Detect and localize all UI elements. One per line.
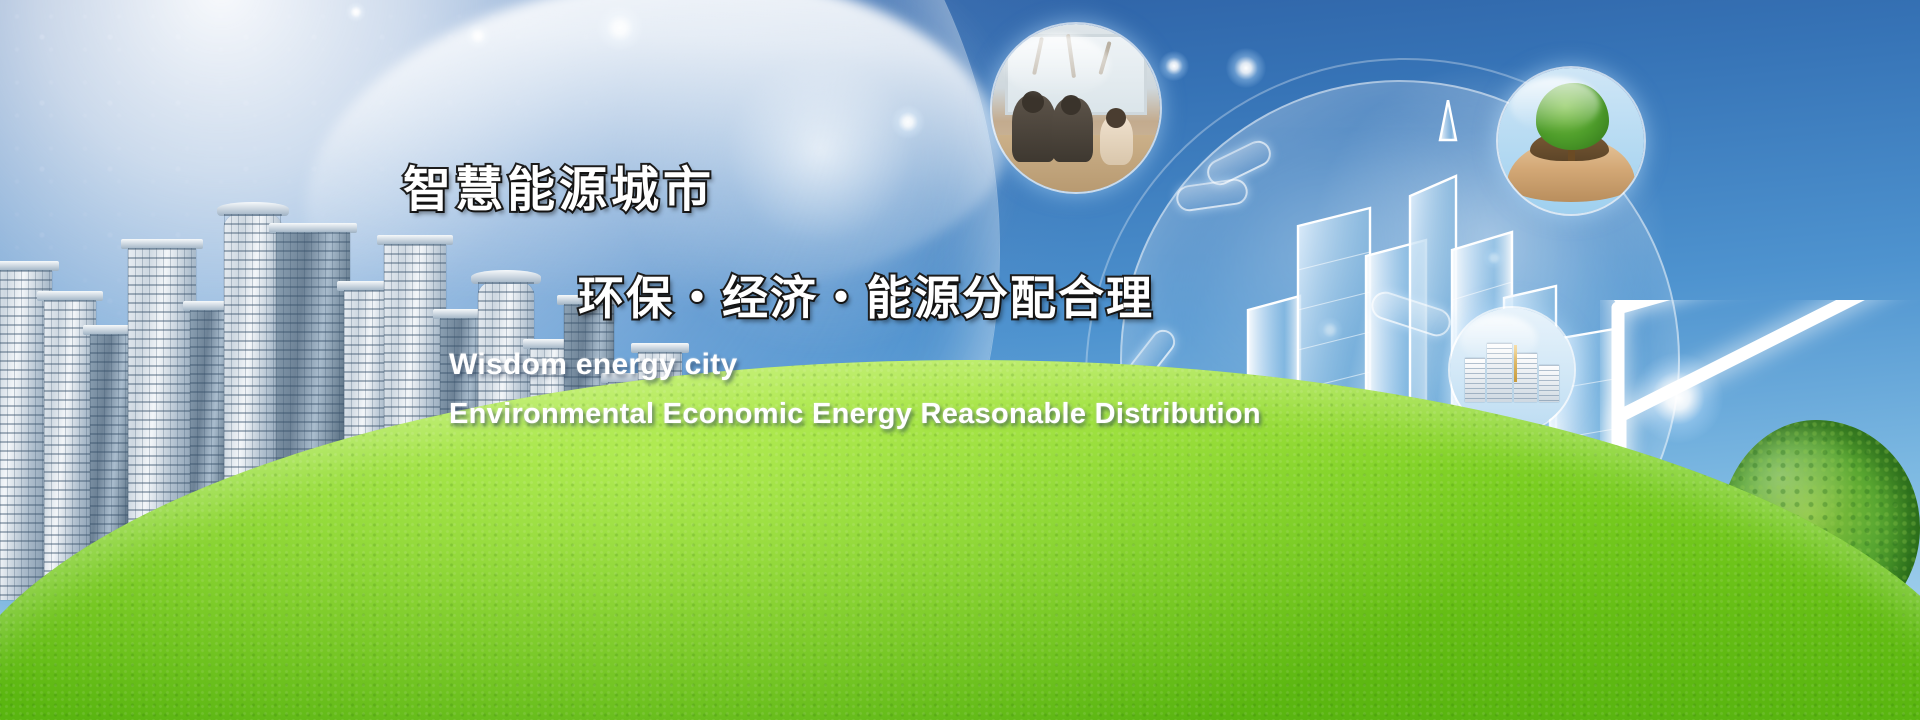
- hero-banner: 智慧能源城市 环保・经济・能源分配合理 Wisdom energy city E…: [0, 0, 1920, 720]
- english-tagline-secondary: Environmental Economic Energy Reasonable…: [449, 398, 1261, 431]
- banner-copy: 智慧能源城市 环保・经济・能源分配合理 Wisdom energy city E…: [0, 0, 1920, 720]
- english-tagline-primary: Wisdom energy city: [449, 348, 738, 382]
- subheadline-chinese: 环保・经济・能源分配合理: [578, 262, 1154, 328]
- headline-chinese: 智慧能源城市: [403, 150, 715, 220]
